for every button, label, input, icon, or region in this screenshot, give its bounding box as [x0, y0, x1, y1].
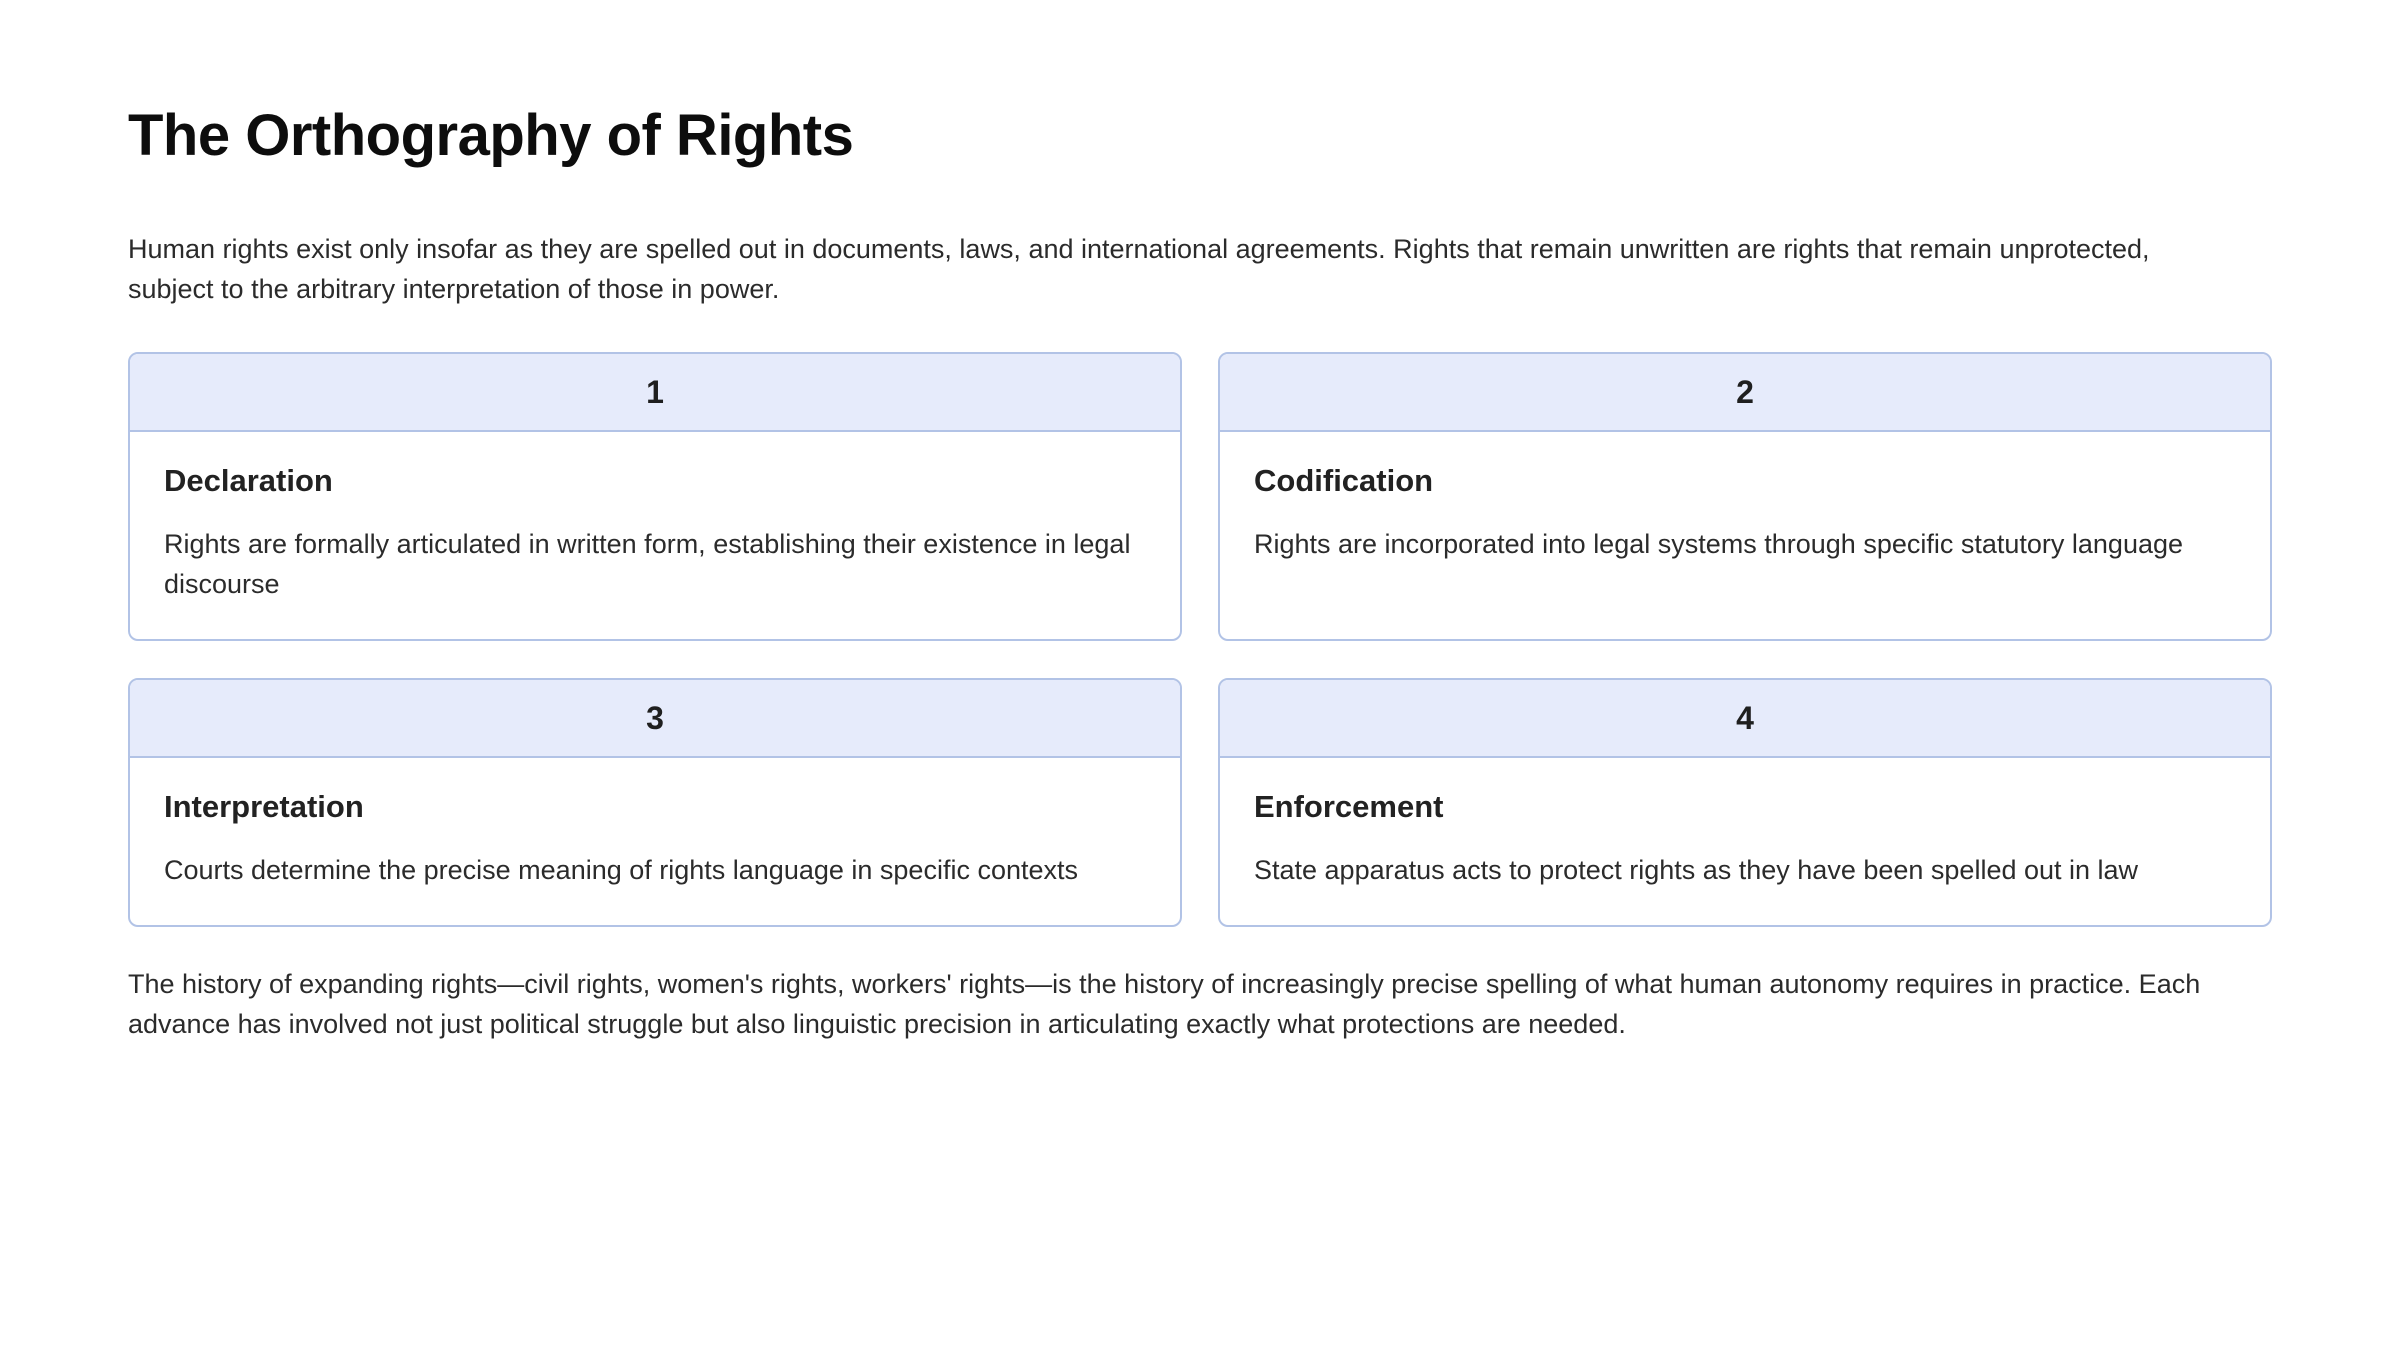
stage-card-4-text: State apparatus acts to protect rights a… [1254, 825, 2236, 891]
stage-card-1-header: 1 [130, 354, 1180, 432]
stage-card-2: 2 Codification Rights are incorporated i… [1218, 352, 2272, 641]
intro-paragraph: Human rights exist only insofar as they … [128, 168, 2238, 310]
page-root: The Orthography of Rights Human rights e… [0, 0, 2400, 1350]
card-grid: 1 Declaration Rights are formally articu… [128, 352, 2272, 927]
stage-card-4-number: 4 [1736, 702, 1754, 734]
stage-card-4: 4 Enforcement State apparatus acts to pr… [1218, 678, 2272, 927]
stage-card-3-number: 3 [646, 702, 664, 734]
stage-card-1-body: Declaration Rights are formally articula… [130, 432, 1180, 639]
stage-card-3-body: Interpretation Courts determine the prec… [130, 758, 1180, 925]
stage-card-3: 3 Interpretation Courts determine the pr… [128, 678, 1182, 927]
page-title: The Orthography of Rights [128, 0, 2272, 168]
stage-card-2-body: Codification Rights are incorporated int… [1220, 432, 2270, 639]
stage-card-3-header: 3 [130, 680, 1180, 758]
stage-card-1-text: Rights are formally articulated in writt… [164, 499, 1146, 605]
stage-card-4-body: Enforcement State apparatus acts to prot… [1220, 758, 2270, 925]
stage-card-3-title: Interpretation [164, 788, 1146, 825]
stage-card-4-title: Enforcement [1254, 788, 2236, 825]
stage-card-2-text: Rights are incorporated into legal syste… [1254, 499, 2236, 565]
stage-card-4-header: 4 [1220, 680, 2270, 758]
stage-card-2-number: 2 [1736, 376, 1754, 408]
stage-card-3-text: Courts determine the precise meaning of … [164, 825, 1146, 891]
stage-card-1-title: Declaration [164, 462, 1146, 499]
stage-card-1-number: 1 [646, 376, 664, 408]
outro-paragraph: The history of expanding rights—civil ri… [128, 927, 2272, 1045]
stage-card-2-header: 2 [1220, 354, 2270, 432]
stage-card-1: 1 Declaration Rights are formally articu… [128, 352, 1182, 641]
stage-card-2-title: Codification [1254, 462, 2236, 499]
